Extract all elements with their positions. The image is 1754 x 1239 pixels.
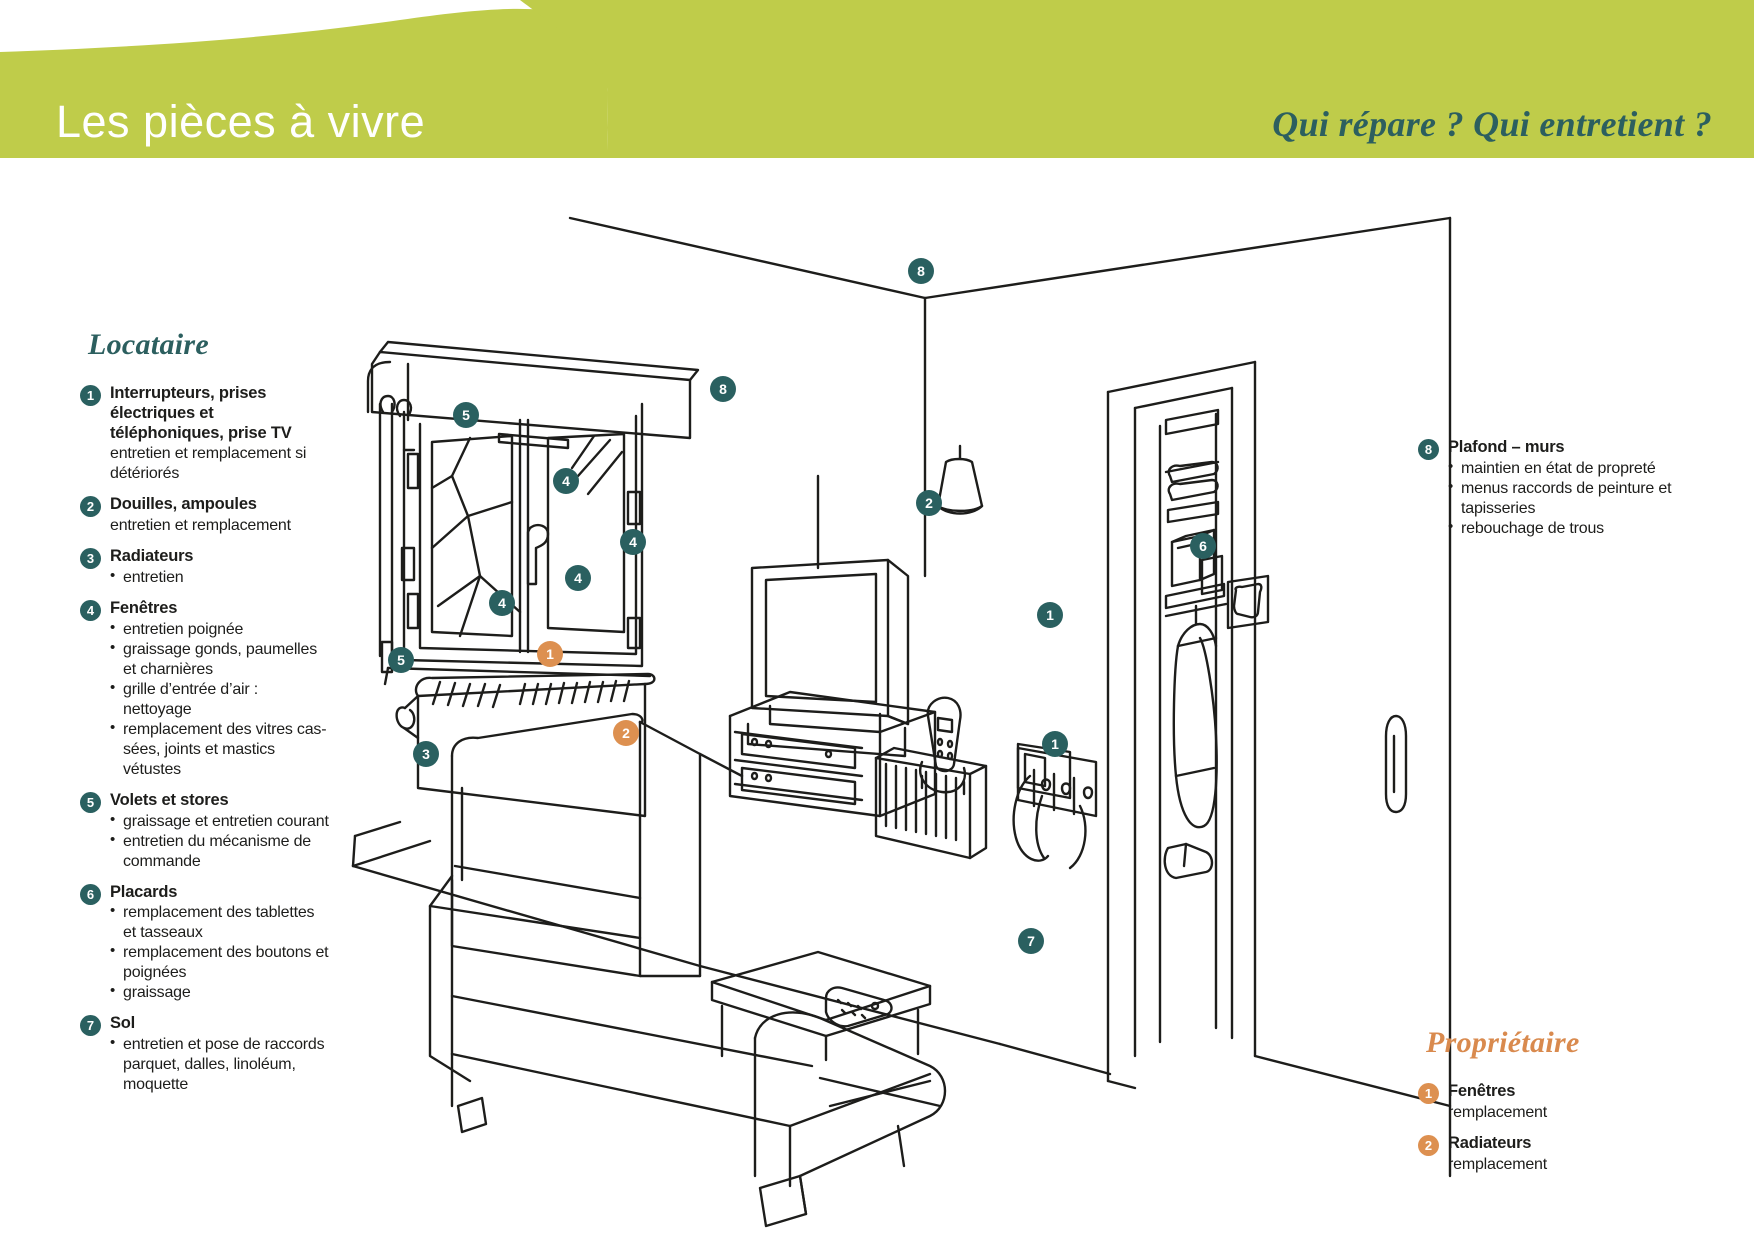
marker-8-wall[interactable]: 8 — [710, 376, 736, 402]
list-item: 1Interrupteurs, prises électriques et té… — [80, 384, 330, 484]
marker-8-ceiling[interactable]: 8 — [908, 258, 934, 284]
page-header: Les pièces à vivre Qui répare ? Qui entr… — [0, 0, 1754, 176]
item-subtitle: remplacement — [1448, 1155, 1668, 1175]
item-bullets: remplacement des tablettes et tasseauxre… — [110, 903, 330, 1003]
tenant-list: 1Interrupteurs, prises électriques et té… — [80, 384, 330, 1095]
item-number-badge: 1 — [1418, 1083, 1439, 1104]
page-title: Les pièces à vivre — [56, 96, 425, 148]
bullet: entretien — [110, 568, 330, 588]
bullet: maintien en état de propreté — [1448, 459, 1678, 479]
owner-heading: Propriétaire — [1426, 1026, 1668, 1060]
item-title: Douilles, ampoules — [110, 495, 330, 515]
bullet: remplacement des vitres cas­sées, joints… — [110, 720, 330, 780]
marker-3-radiator[interactable]: 3 — [413, 741, 439, 767]
bullet: menus raccords de peinture et tapisserie… — [1448, 479, 1678, 519]
item-number-badge: 3 — [80, 548, 101, 569]
owner-section: Propriétaire 1Fenêtresremplacement2Radia… — [1418, 1026, 1668, 1186]
bullet: graissage — [110, 983, 330, 1003]
bullet: graissage gonds, paumelles et charnières — [110, 640, 330, 680]
list-item: 1Fenêtresremplacement — [1418, 1082, 1668, 1123]
tenant-section: Locataire 1Interrupteurs, prises électri… — [80, 328, 330, 1106]
list-item: 7Solentretien et pose de raccords parque… — [80, 1014, 330, 1095]
marker-4-window-c[interactable]: 4 — [565, 565, 591, 591]
list-item: 2Douilles, ampoulesentretien et remplace… — [80, 495, 330, 536]
item-subtitle: entretien et remplacement si détériorés — [110, 444, 330, 484]
item-title: Interrupteurs, prises électriques et tél… — [110, 384, 330, 443]
item-title: Fenêtres — [1448, 1082, 1668, 1102]
ceiling-walls-section: 8Plafond – mursmaintien en état de propr… — [1418, 438, 1678, 550]
bullet: entretien poignée — [110, 620, 330, 640]
marker-5-rail[interactable]: 5 — [388, 647, 414, 673]
marker-1-outlet[interactable]: 1 — [1042, 731, 1068, 757]
list-item: 5Volets et storesgraissage et entretien … — [80, 791, 330, 872]
marker-5-shutter[interactable]: 5 — [453, 402, 479, 428]
item-number-badge: 4 — [80, 600, 101, 621]
list-item: 6Placardsremplacement des tablettes et t… — [80, 883, 330, 1004]
page-subtitle: Qui répare ? Qui entretient ? — [1272, 103, 1712, 145]
marker-4-window-b[interactable]: 4 — [620, 529, 646, 555]
item-title: Plafond – murs — [1448, 438, 1678, 458]
item-bullets: entretien et pose de raccords parquet, d… — [110, 1035, 330, 1095]
marker-7-floor[interactable]: 7 — [1018, 928, 1044, 954]
item-title: Radiateurs — [1448, 1134, 1668, 1154]
item-bullets: entretien poignéegraissage gonds, paumel… — [110, 620, 330, 780]
list-item: 3Radiateursentretien — [80, 547, 330, 588]
ceiling-list: 8Plafond – mursmaintien en état de propr… — [1418, 438, 1678, 539]
bullet: entretien et pose de raccords parquet, d… — [110, 1035, 330, 1095]
bullet: grille d’entrée d’air : nettoyage — [110, 680, 330, 720]
item-title: Sol — [110, 1014, 330, 1034]
bullet: remplacement des tablettes et tasseaux — [110, 903, 330, 943]
item-number-badge: 5 — [80, 792, 101, 813]
marker-6-closet[interactable]: 6 — [1190, 533, 1216, 559]
tenant-heading: Locataire — [88, 328, 330, 362]
item-number-badge: 2 — [1418, 1135, 1439, 1156]
item-subtitle: remplacement — [1448, 1103, 1668, 1123]
item-number-badge: 7 — [80, 1015, 101, 1036]
item-number-badge: 6 — [80, 884, 101, 905]
item-number-badge: 1 — [80, 385, 101, 406]
item-number-badge: 8 — [1418, 439, 1439, 460]
item-bullets: entretien — [110, 568, 330, 588]
item-number-badge: 2 — [80, 496, 101, 517]
item-bullets: maintien en état de propretémenus raccor… — [1448, 459, 1678, 539]
marker-2-lamp[interactable]: 2 — [916, 490, 942, 516]
item-title: Placards — [110, 883, 330, 903]
list-item: 2Radiateursremplacement — [1418, 1134, 1668, 1175]
bullet: rebouchage de trous — [1448, 519, 1678, 539]
bullet: remplacement des boutons et poignées — [110, 943, 330, 983]
bullet: entretien du mécanisme de commande — [110, 832, 330, 872]
owner-list: 1Fenêtresremplacement2Radiateursremplace… — [1418, 1082, 1668, 1175]
list-item: 4Fenêtresentretien poignéegraissage gond… — [80, 599, 330, 780]
list-item: 8Plafond – mursmaintien en état de propr… — [1418, 438, 1678, 539]
item-title: Radiateurs — [110, 547, 330, 567]
marker-1-switch[interactable]: 1 — [1037, 602, 1063, 628]
marker-2-owner-radiator[interactable]: 2 — [613, 720, 639, 746]
marker-4-window-a[interactable]: 4 — [553, 468, 579, 494]
item-bullets: graissage et entretien courantentretien … — [110, 812, 330, 872]
item-title: Fenêtres — [110, 599, 330, 619]
marker-4-window-d[interactable]: 4 — [489, 590, 515, 616]
marker-1-owner-window[interactable]: 1 — [537, 641, 563, 667]
item-subtitle: entretien et remplacement — [110, 516, 330, 536]
header-green-band — [0, 0, 1754, 176]
item-title: Volets et stores — [110, 791, 330, 811]
bullet: graissage et entretien courant — [110, 812, 330, 832]
